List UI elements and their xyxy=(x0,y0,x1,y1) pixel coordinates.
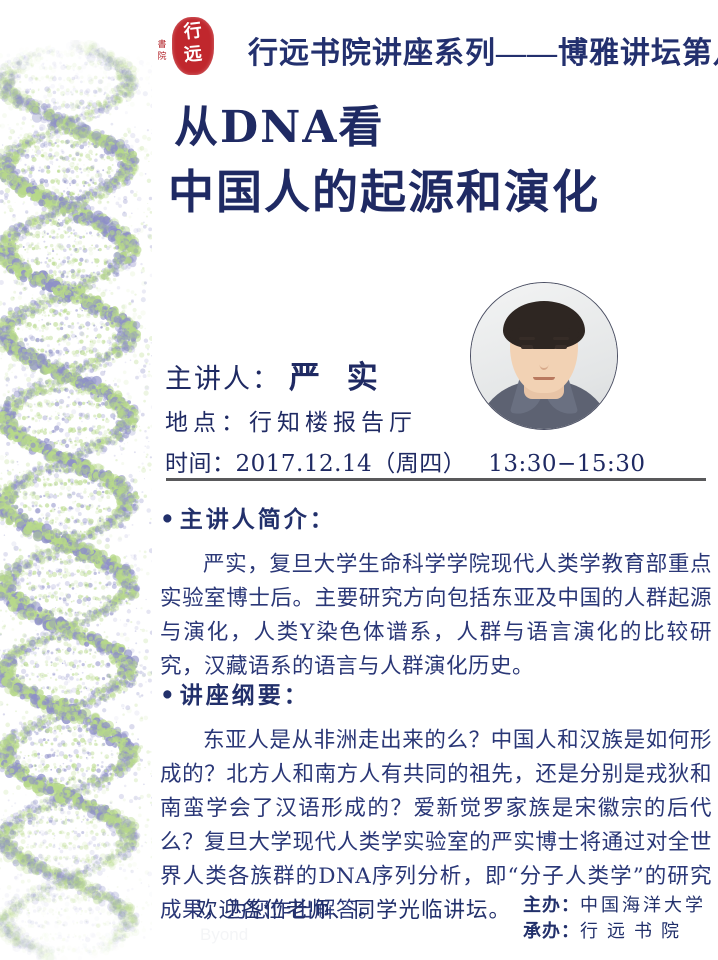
speaker-name: 严 实 xyxy=(289,360,386,396)
bio-heading: •主讲人简介： xyxy=(160,500,712,534)
welcome-text: 欢迎各位老师、同学光临讲坛。 xyxy=(196,893,511,924)
place-value: 行知楼报告厅 xyxy=(249,410,417,436)
portrait-brow-left xyxy=(519,337,535,340)
main-title: 从DNA看 中国人的起源和演化 xyxy=(168,104,708,217)
section-speaker-bio: •主讲人简介： 严实，复旦大学生命科学学院现代人类学教育部重点实验室博士后。主要… xyxy=(160,500,712,684)
place-label: 地点： xyxy=(165,410,249,436)
seal-char-top: 行 xyxy=(171,21,215,44)
bullet-icon: • xyxy=(160,506,178,533)
speaker-label: 主讲人： xyxy=(165,364,281,395)
event-info: 主讲人：严 实 地点：行知楼报告厅 时间：2017.12.14（周四）13:30… xyxy=(165,352,645,478)
organizer-value: 行远书院 xyxy=(580,921,688,942)
portrait-brow-right xyxy=(553,337,569,340)
seal-stamp: 行 远 xyxy=(172,17,214,75)
host-value: 中国海洋大学 xyxy=(580,895,706,916)
seal-char-bottom: 远 xyxy=(171,44,214,66)
institution-seal-logo: 書院 行 远 xyxy=(152,15,248,85)
organizers: 主办：中国海洋大学 承办：行远书院 xyxy=(523,893,706,945)
host-row: 主办：中国海洋大学 xyxy=(523,893,706,919)
organizer-label: 承办： xyxy=(523,921,580,942)
section-lecture-outline: •讲座纲要： 东亚人是从非洲走出来的么？中国人和汉族是如何形成的？北方人和南方人… xyxy=(160,676,712,928)
bio-body: 严实，复旦大学生命科学学院现代人类学教育部重点实验室博士后。主要研究方向包括东亚… xyxy=(160,548,712,684)
title-line-2: 中国人的起源和演化 xyxy=(168,168,708,218)
time-row: 时间：2017.12.14（周四）13:30−15:30 xyxy=(165,444,645,478)
header: 書院 行 远 行远书院讲座系列——博雅讲坛第八讲 xyxy=(0,16,718,84)
place-row: 地点：行知楼报告厅 xyxy=(165,403,645,437)
dna-helix-decoration xyxy=(0,40,152,960)
time-date: 2017.12.14（周四） xyxy=(236,451,467,477)
bio-heading-text: 主讲人简介： xyxy=(180,506,336,533)
portrait-eye-left xyxy=(521,345,533,349)
time-range: 13:30−15:30 xyxy=(488,451,645,477)
outline-heading-text: 讲座纲要： xyxy=(180,682,310,709)
poster-page: 書院 行 远 行远书院讲座系列——博雅讲坛第八讲 从DNA看 中国人的起源和演化… xyxy=(0,0,718,960)
watermark: Byond xyxy=(200,925,248,945)
host-label: 主办： xyxy=(523,895,580,916)
outline-heading: •讲座纲要： xyxy=(160,676,712,710)
title-line-1: 从DNA看 xyxy=(174,104,708,152)
series-title: 行远书院讲座系列——博雅讲坛第八讲 xyxy=(248,28,718,72)
speaker-row: 主讲人：严 实 xyxy=(165,352,645,397)
time-label: 时间： xyxy=(165,451,236,477)
bullet-icon: • xyxy=(160,682,178,709)
seal-sub-text: 書院 xyxy=(155,39,169,63)
portrait-eye-right xyxy=(555,345,567,349)
horizontal-divider xyxy=(166,478,706,481)
organizer-row: 承办：行远书院 xyxy=(523,919,706,945)
